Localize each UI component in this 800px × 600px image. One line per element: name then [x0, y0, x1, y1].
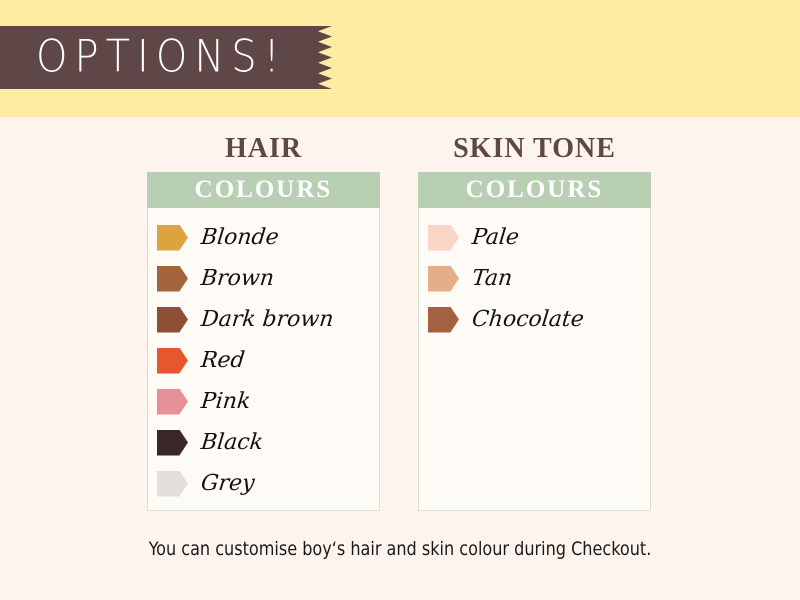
hair-panel-header: COLOURS: [147, 172, 380, 208]
colour-swatch-icon: [157, 430, 188, 456]
colour-swatch-icon: [428, 225, 459, 251]
list-item-label: Pale: [471, 225, 521, 250]
colour-swatch-icon: [428, 307, 459, 333]
list-item[interactable]: Blonde: [148, 217, 379, 258]
footer-note: You can customise boy‘s hair and skin co…: [24, 538, 776, 560]
list-item-label: Pink: [200, 389, 252, 414]
skin-tone-column-title: SKIN TONE: [418, 126, 651, 172]
list-item-label: Red: [200, 348, 246, 373]
list-item-label: Brown: [200, 266, 276, 291]
colour-swatch-icon: [428, 266, 459, 292]
colour-swatch-icon: [157, 307, 188, 333]
list-item[interactable]: Grey: [148, 463, 379, 504]
list-item[interactable]: Brown: [148, 258, 379, 299]
list-item[interactable]: Pale: [419, 217, 650, 258]
list-item-label: Chocolate: [471, 307, 585, 332]
colour-swatch-icon: [157, 348, 188, 374]
ribbon-zigzag-edge: [310, 26, 332, 89]
list-item[interactable]: Tan: [419, 258, 650, 299]
colour-swatch-icon: [157, 471, 188, 497]
list-item[interactable]: Red: [148, 340, 379, 381]
list-item-label: Tan: [471, 266, 514, 291]
list-item[interactable]: Pink: [148, 381, 379, 422]
hair-panel: COLOURS Blonde Brown Dark brown Red: [147, 172, 380, 511]
skin-tone-panel: COLOURS Pale Tan Chocolate: [418, 172, 651, 511]
colour-swatch-icon: [157, 389, 188, 415]
skin-tone-swatch-list: Pale Tan Chocolate: [419, 208, 650, 340]
hair-swatch-list: Blonde Brown Dark brown Red Pink: [148, 208, 379, 504]
skin-tone-panel-header: COLOURS: [418, 172, 651, 208]
list-item[interactable]: Chocolate: [419, 299, 650, 340]
skin-tone-column: SKIN TONE COLOURS Pale Tan Chocolate: [418, 126, 651, 511]
list-item-label: Blonde: [200, 225, 280, 250]
list-item-label: Grey: [200, 471, 256, 496]
colour-swatch-icon: [157, 225, 188, 251]
list-item-label: Black: [200, 430, 265, 455]
list-item-label: Dark brown: [200, 307, 335, 332]
page-title: OPTIONS!: [36, 22, 287, 93]
hair-column: HAIR COLOURS Blonde Brown Dark brown: [147, 126, 380, 511]
options-ribbon: OPTIONS!: [0, 26, 330, 89]
list-item[interactable]: Dark brown: [148, 299, 379, 340]
hair-column-title: HAIR: [147, 126, 380, 172]
top-yellow-band: OPTIONS!: [0, 0, 800, 117]
colour-swatch-icon: [157, 266, 188, 292]
list-item[interactable]: Black: [148, 422, 379, 463]
